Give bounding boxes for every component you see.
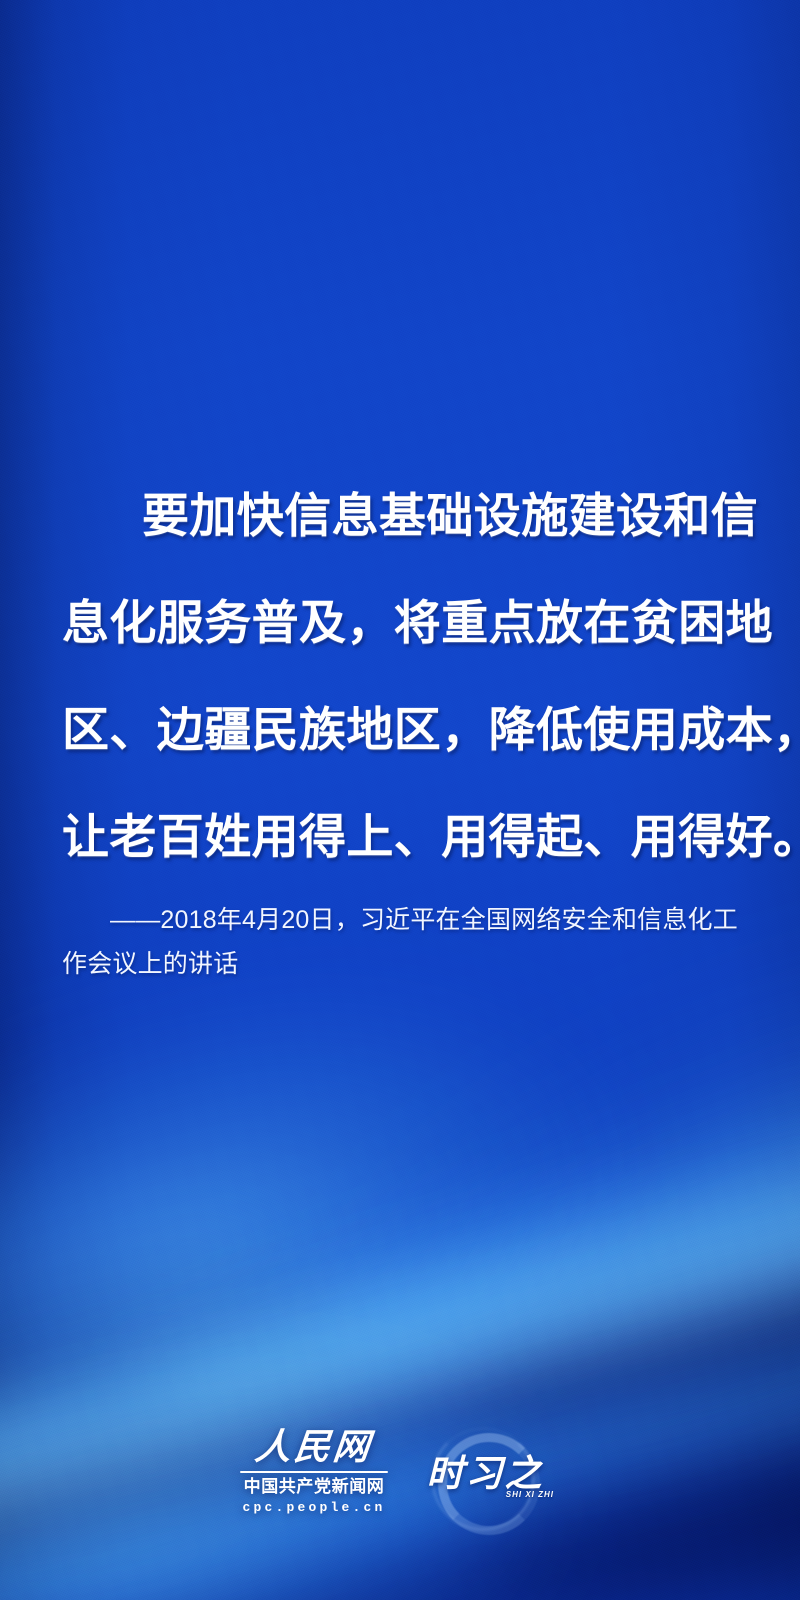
people-daily-script-name: 人民网 [249, 1429, 378, 1468]
attribution-speaker: 习近平 [360, 906, 436, 934]
people-daily-url: cpc.people.cn [242, 1498, 385, 1518]
quote-attribution: ——2018年4月20日，习近平在全国网络安全和信息化工作会议上的讲话 [62, 898, 762, 986]
quote-block: 要加快信息基础设施建设和信 息化服务普及，将重点放在贫困地 区、边疆民族地区，降… [62, 462, 752, 890]
footer-logos: 人民网 中国共产党新闻网 cpc.people.cn 时习之 SHI XI ZH… [0, 1418, 800, 1528]
attribution-dash: —— [62, 906, 160, 934]
quote-line-1: 要加快信息基础设施建设和信 [62, 462, 752, 569]
poster-canvas: 要加快信息基础设施建设和信 息化服务普及，将重点放在贫困地 区、边疆民族地区，降… [0, 0, 800, 1600]
shi-xi-zhi-logo[interactable]: 时习之 SHI XI ZHI [410, 1421, 560, 1525]
people-daily-divider [240, 1471, 388, 1473]
quote-line-2: 息化服务普及，将重点放在贫困地 [62, 569, 752, 676]
quote-line-3: 区、边疆民族地区，降低使用成本， [62, 676, 752, 783]
people-daily-logo[interactable]: 人民网 中国共产党新闻网 cpc.people.cn [240, 1429, 388, 1517]
poster-content: 要加快信息基础设施建设和信 息化服务普及，将重点放在贫困地 区、边疆民族地区，降… [0, 0, 800, 1600]
attribution-occasion: 在全国网络安全和信息化 [436, 906, 713, 934]
shi-xi-zhi-title: 时习之 [427, 1455, 544, 1492]
quote-line-4: 让老百姓用得上、用得起、用得好。 [62, 783, 752, 890]
attribution-date: 2018年4月20日， [160, 906, 360, 934]
people-daily-sub-name: 中国共产党新闻网 [244, 1477, 385, 1497]
shi-xi-zhi-pinyin: SHI XI ZHI [506, 1491, 554, 1499]
